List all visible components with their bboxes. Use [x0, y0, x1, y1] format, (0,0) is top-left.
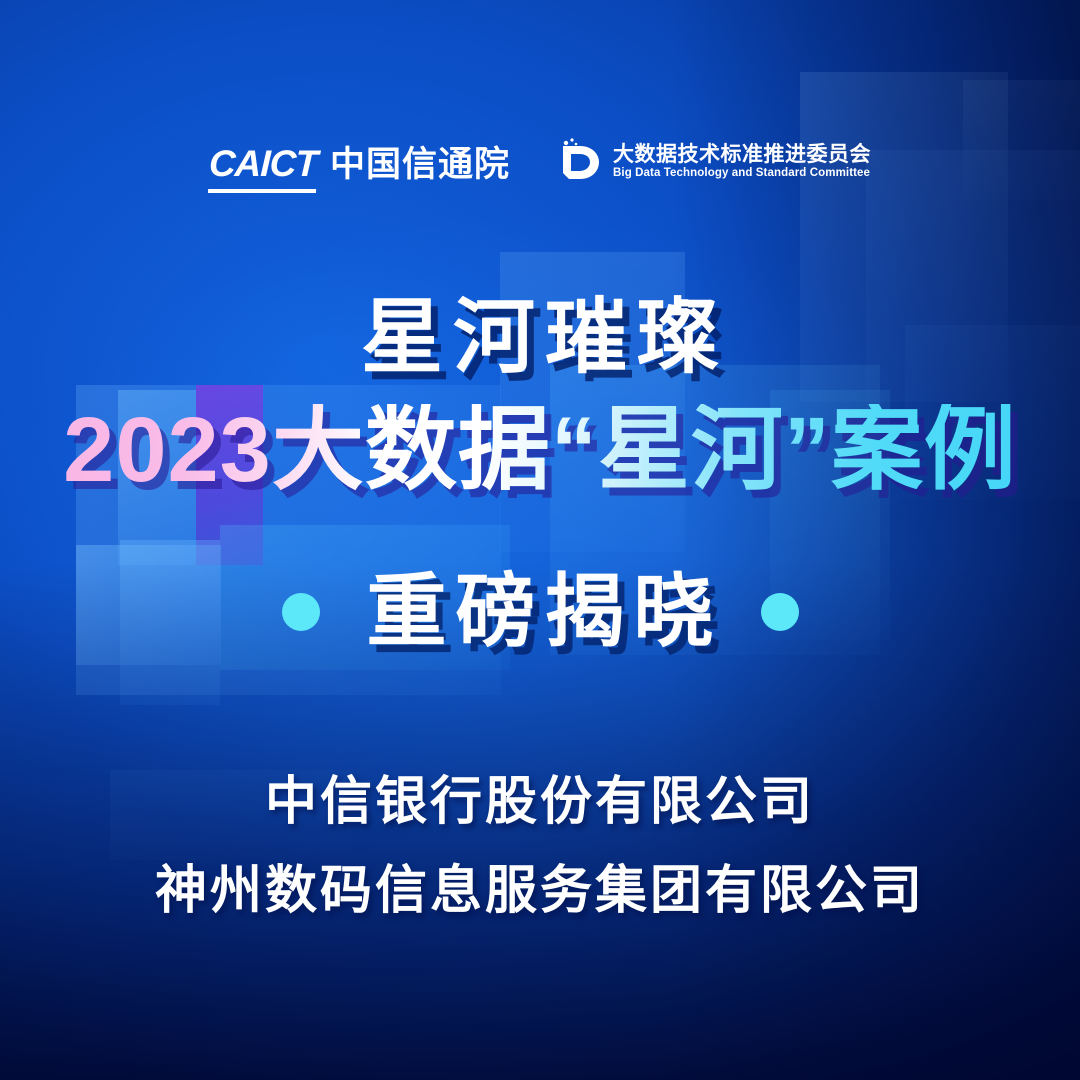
caict-name-cn: 中国信通院 — [330, 136, 510, 187]
company-name-1-text: 中信银行股份有限公司 — [265, 773, 815, 831]
title-line-3-text: 重磅揭晓 — [358, 572, 723, 652]
company-name-2-text: 神州数码信息服务集团有限公司 — [155, 862, 925, 920]
title-line-2: 2023大数据“星河”案例 — [0, 404, 1080, 496]
caict-logo-icon: CAICT — [208, 143, 318, 185]
big-data-committee-name-cn: 大数据技术标准推进委员会 — [613, 144, 871, 165]
big-data-committee-logo: 大数据技术标准推进委员会 Big Data Technology and Sta… — [554, 137, 871, 187]
big-data-d-logo-icon — [554, 137, 602, 187]
decorative-dot-right — [761, 593, 799, 631]
logo-row: CAICT 中国信通院 大数据技术标准推进委员会 Big Data Techno… — [0, 136, 1080, 187]
poster-root: CAICT 中国信通院 大数据技术标准推进委员会 Big Data Techno… — [0, 0, 1080, 1080]
title-line-2-text: 2023大数据“星河”案例 — [63, 404, 1017, 496]
decorative-dot-left — [282, 593, 320, 631]
company-list: 中信银行股份有限公司 神州数码信息服务集团有限公司 — [0, 772, 1080, 923]
title-line-3: 重磅揭晓 — [0, 572, 1080, 652]
company-name-1: 中信银行股份有限公司 — [257, 772, 823, 833]
company-name-2: 神州数码信息服务集团有限公司 — [147, 861, 933, 922]
caict-logo: CAICT 中国信通院 — [209, 136, 510, 187]
title-line-1: 星河璀璨 — [0, 297, 1080, 379]
big-data-committee-name-en: Big Data Technology and Standard Committ… — [613, 168, 871, 180]
